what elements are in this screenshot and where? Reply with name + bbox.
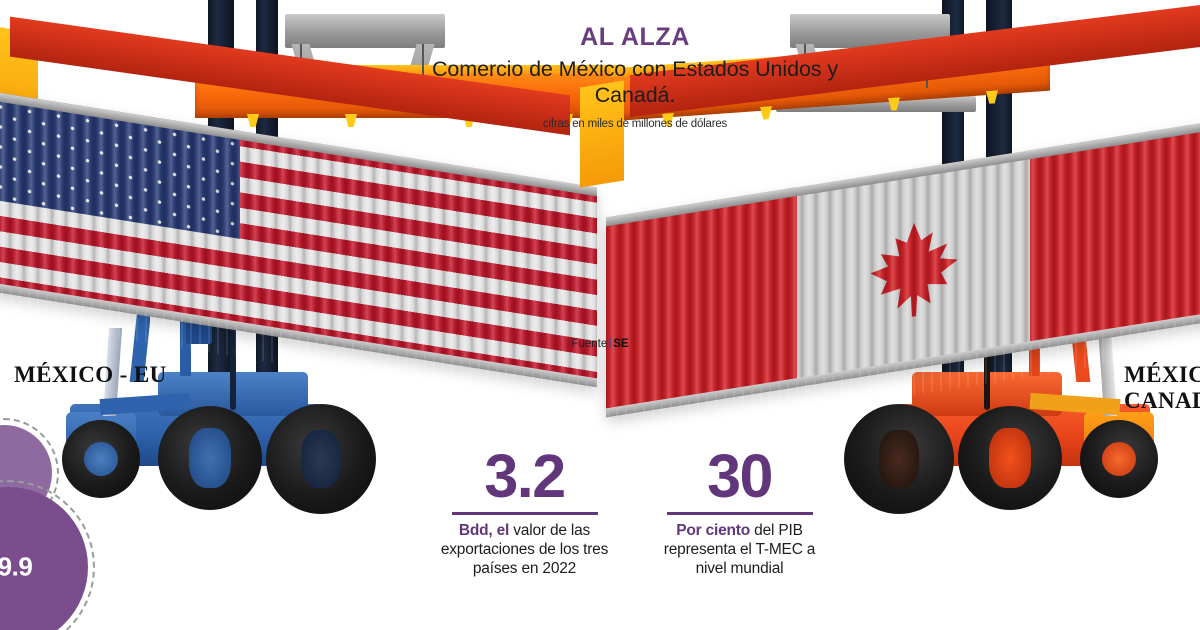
units-note: cifras en miles de millones de dólares	[430, 118, 840, 130]
forklift-wheel-mid	[158, 406, 262, 510]
source-name: SE	[613, 338, 628, 350]
stat-number: 3.2	[432, 448, 617, 504]
source-separator-bar	[609, 338, 611, 348]
forklift-wheel-rear	[62, 420, 140, 498]
bubble-value: 89.9	[0, 552, 88, 583]
crane-gantry-head	[285, 14, 445, 48]
source-attribution: FuenteSE	[0, 338, 1200, 350]
pair-label-mexico-eu: MÉXICO - EU	[14, 362, 167, 388]
deck-subtitle: Comercio de México con Estados Unidos y …	[430, 56, 840, 108]
stats-row: 3.2 Bdd, el valor de las exportaciones d…	[432, 448, 832, 579]
forklift-wheel-hub	[189, 428, 231, 488]
stat-caption: Por ciento del PIB representa el T-MEC a…	[647, 522, 832, 579]
stat-caption-lead: Bdd, el	[459, 522, 509, 539]
source-label: Fuente	[571, 338, 607, 350]
forklift-wheel-front	[844, 404, 954, 514]
forklift-wheel-hub	[879, 430, 919, 488]
headline-block: AL ALZA Comercio de México con Estados U…	[430, 24, 840, 130]
forklift-wheel-hub	[989, 428, 1031, 488]
forklift-wheel-mid	[958, 406, 1062, 510]
pair-label-line-2: CANADÁ	[1124, 388, 1200, 414]
forklift-wheel-rear	[1080, 420, 1158, 498]
stat-number: 30	[647, 448, 832, 504]
forklift-wheel-front	[266, 404, 376, 514]
stat-divider-rule	[452, 512, 598, 515]
forklift-wheel-hub	[301, 430, 341, 488]
stat-card-pib-tmec: 30 Por ciento del PIB representa el T-ME…	[647, 448, 832, 579]
infographic-canvas: 89.9 AL ALZA Comercio de México con Esta…	[0, 0, 1200, 630]
pair-label-line-1: MÉXICO -	[1124, 362, 1200, 388]
stat-caption-lead: Por ciento	[676, 522, 750, 539]
stat-divider-rule	[667, 512, 813, 515]
kicker-title: AL ALZA	[430, 24, 840, 50]
stat-caption: Bdd, el valor de las exportaciones de lo…	[432, 522, 617, 579]
maple-leaf-icon	[862, 208, 966, 328]
forklift-wheel-hub	[1102, 442, 1136, 476]
pair-label-mexico-canada: MÉXICO - CANADÁ	[1124, 362, 1200, 414]
stat-card-exportaciones: 3.2 Bdd, el valor de las exportaciones d…	[432, 448, 617, 579]
forklift-wheel-hub	[84, 442, 118, 476]
spreader-twistlock	[345, 114, 357, 127]
pair-label-line-1: MÉXICO - EU	[14, 362, 167, 388]
